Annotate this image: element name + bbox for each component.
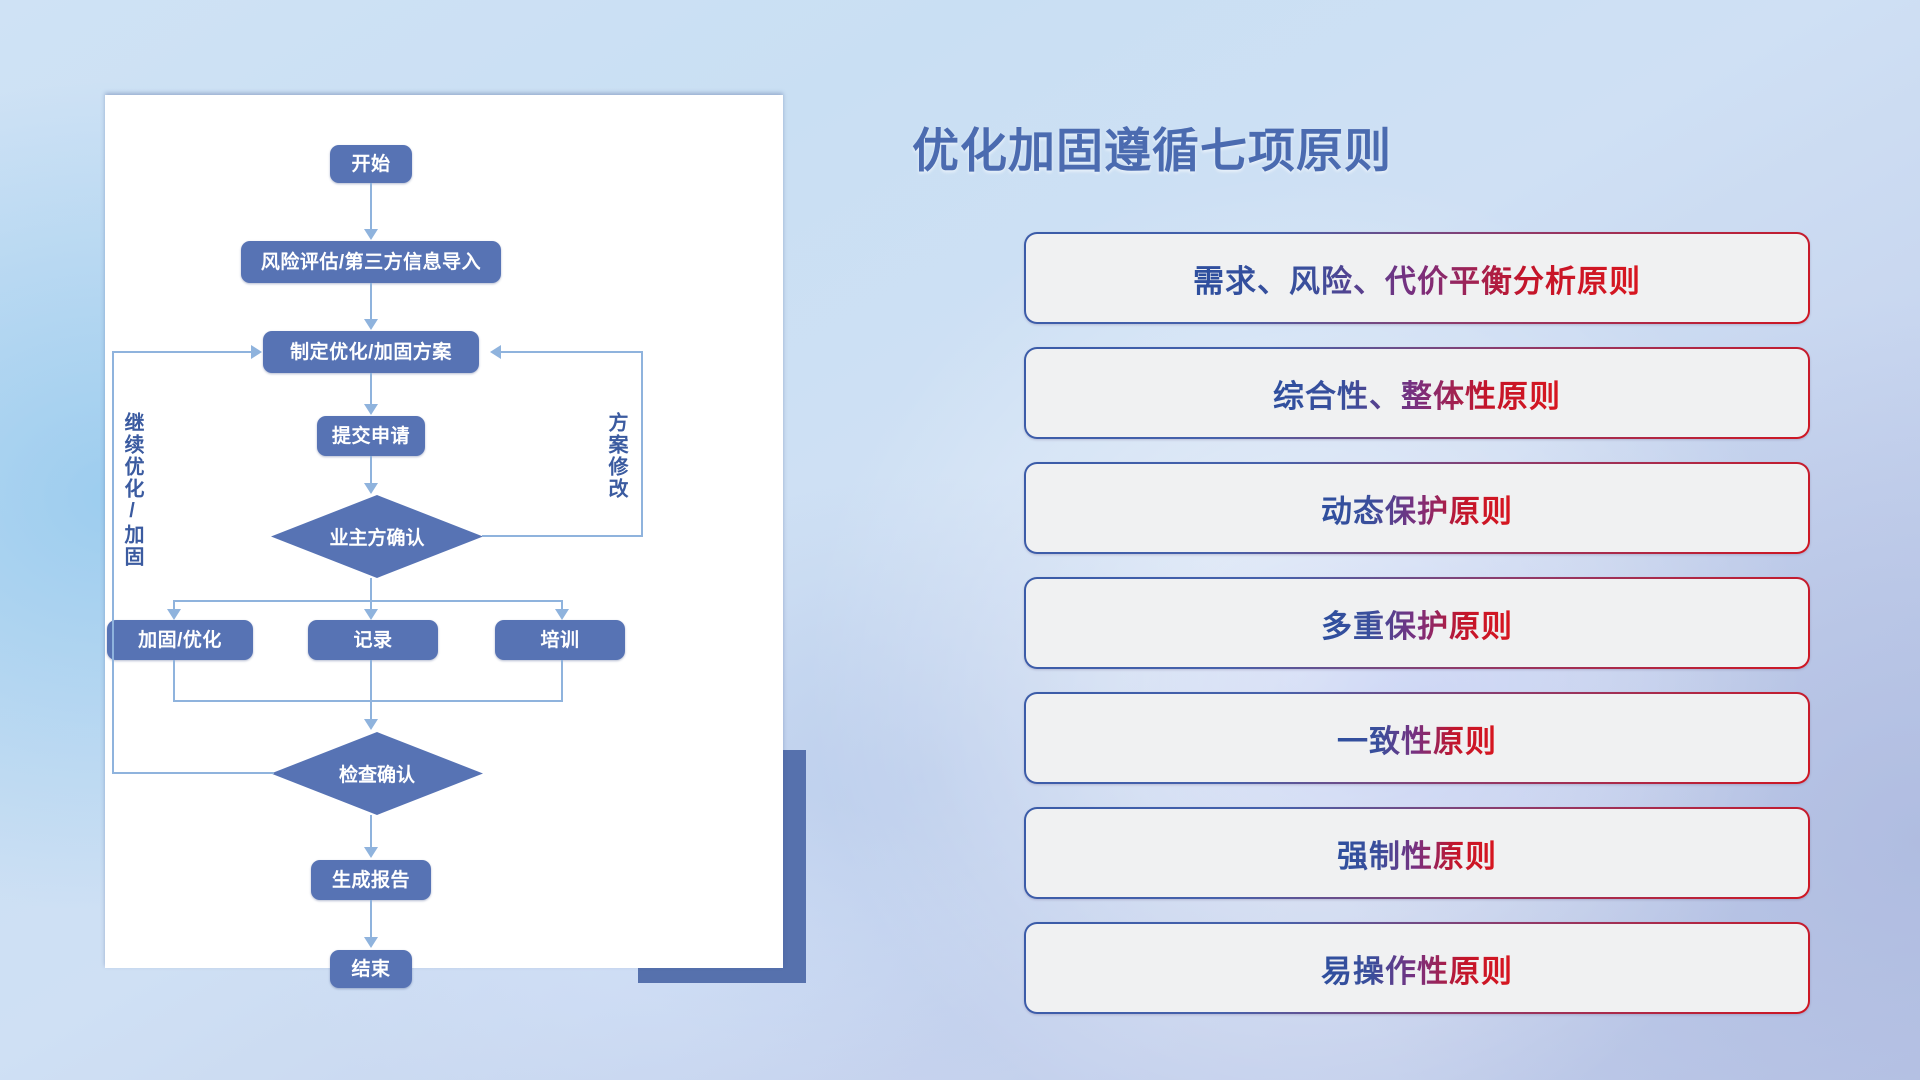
principle-label: 强制性原则 — [1337, 831, 1497, 876]
flow-node-submit[interactable]: 提交申请 — [317, 416, 425, 456]
flow-node-report[interactable]: 生成报告 — [311, 860, 431, 900]
flow-node-label: 检查确认 — [339, 760, 415, 787]
principle-label: 需求、风险、代价平衡分析原则 — [1193, 256, 1641, 301]
arrowhead-down — [364, 319, 378, 330]
flow-node-label: 生成报告 — [332, 871, 410, 890]
principle-label: 多重保护原则 — [1321, 601, 1513, 646]
flow-node-label: 业主方确认 — [329, 523, 424, 550]
principle-label: 一致性原则 — [1337, 716, 1497, 761]
flowchart-card: 开始 风险评估/第三方信息导入 制定优化/加固方案 提交申请 业主方确认 加固/… — [105, 95, 783, 968]
connector-right-loop-top — [501, 351, 643, 353]
arrowhead-down — [364, 483, 378, 494]
arrowhead-right — [251, 345, 262, 359]
arrowhead-down — [364, 404, 378, 415]
arrowhead-left — [490, 345, 501, 359]
connector-record-to-check — [370, 660, 372, 720]
flow-node-label: 开始 — [351, 155, 390, 174]
connector-right-loop-bottom — [482, 535, 643, 537]
flow-node-label: 培训 — [540, 631, 579, 650]
flow-node-label: 风险评估/第三方信息导入 — [261, 253, 481, 272]
connector-owner-to-split — [370, 578, 372, 601]
flow-node-train[interactable]: 培训 — [495, 620, 625, 660]
connector-start-to-risk — [370, 183, 372, 230]
principle-pill[interactable]: 一致性原则 — [1024, 692, 1810, 784]
connector-left-loop-vertical — [112, 351, 114, 774]
connector-right-loop-vertical — [641, 351, 643, 537]
principle-pill-inner: 动态保护原则 — [1026, 464, 1808, 552]
principle-pill-inner: 强制性原则 — [1026, 809, 1808, 897]
connector-plan-to-submit — [370, 373, 372, 405]
flow-node-reinforce[interactable]: 加固/优化 — [107, 620, 253, 660]
flow-node-label: 加固/优化 — [138, 631, 222, 650]
arrowhead-down — [364, 229, 378, 240]
arrowhead-down — [364, 847, 378, 858]
arrowhead-down — [364, 937, 378, 948]
principle-label: 综合性、整体性原则 — [1273, 371, 1561, 416]
principle-pill-inner: 需求、风险、代价平衡分析原则 — [1026, 234, 1808, 322]
principle-pill-inner: 综合性、整体性原则 — [1026, 349, 1808, 437]
connector-merge-bus — [173, 700, 563, 702]
principle-pill-inner: 一致性原则 — [1026, 694, 1808, 782]
principle-label: 动态保护原则 — [1321, 486, 1513, 531]
edge-label-plan-revision: 方案修改 — [605, 412, 626, 500]
connector-left-loop-bottom — [112, 772, 274, 774]
principle-pill-inner: 易操作性原则 — [1026, 924, 1808, 1012]
flow-node-label: 制定优化/加固方案 — [290, 343, 452, 362]
flow-node-check-confirm[interactable]: 检查确认 — [271, 732, 483, 815]
arrowhead-down — [364, 609, 378, 620]
principle-pill[interactable]: 易操作性原则 — [1024, 922, 1810, 1014]
arrowhead-down — [364, 719, 378, 730]
principle-pill[interactable]: 多重保护原则 — [1024, 577, 1810, 669]
arrowhead-down — [555, 609, 569, 620]
flow-node-owner-confirm[interactable]: 业主方确认 — [271, 495, 483, 578]
flow-node-record[interactable]: 记录 — [308, 620, 438, 660]
principle-pill[interactable]: 动态保护原则 — [1024, 462, 1810, 554]
flow-node-label: 记录 — [353, 631, 392, 650]
connector-submit-to-owner — [370, 456, 372, 484]
connector-report-to-end — [370, 900, 372, 938]
connector-train-to-merge — [561, 660, 563, 702]
principle-pill-inner: 多重保护原则 — [1026, 579, 1808, 667]
edge-label-continue-optimize: 继续优化/加固 — [121, 412, 142, 568]
flow-node-plan[interactable]: 制定优化/加固方案 — [263, 331, 479, 373]
connector-left-loop-top — [112, 351, 252, 353]
principles-list: 需求、风险、代价平衡分析原则 综合性、整体性原则 动态保护原则 多重保护原则 一… — [1024, 232, 1810, 1037]
connector-risk-to-plan — [370, 283, 372, 320]
principle-pill[interactable]: 需求、风险、代价平衡分析原则 — [1024, 232, 1810, 324]
principle-pill[interactable]: 强制性原则 — [1024, 807, 1810, 899]
arrowhead-down — [167, 609, 181, 620]
principle-label: 易操作性原则 — [1321, 946, 1513, 991]
principle-pill[interactable]: 综合性、整体性原则 — [1024, 347, 1810, 439]
connector-reinforce-to-merge — [173, 660, 175, 702]
connector-split-bus — [173, 600, 563, 602]
flow-node-label: 结束 — [351, 960, 390, 979]
flow-node-risk[interactable]: 风险评估/第三方信息导入 — [241, 241, 501, 283]
flow-node-start[interactable]: 开始 — [330, 145, 412, 183]
flow-node-end[interactable]: 结束 — [330, 950, 412, 988]
page-title: 优化加固遵循七项原则 — [912, 112, 1392, 181]
connector-check-to-report — [370, 815, 372, 848]
flow-node-label: 提交申请 — [332, 427, 410, 446]
